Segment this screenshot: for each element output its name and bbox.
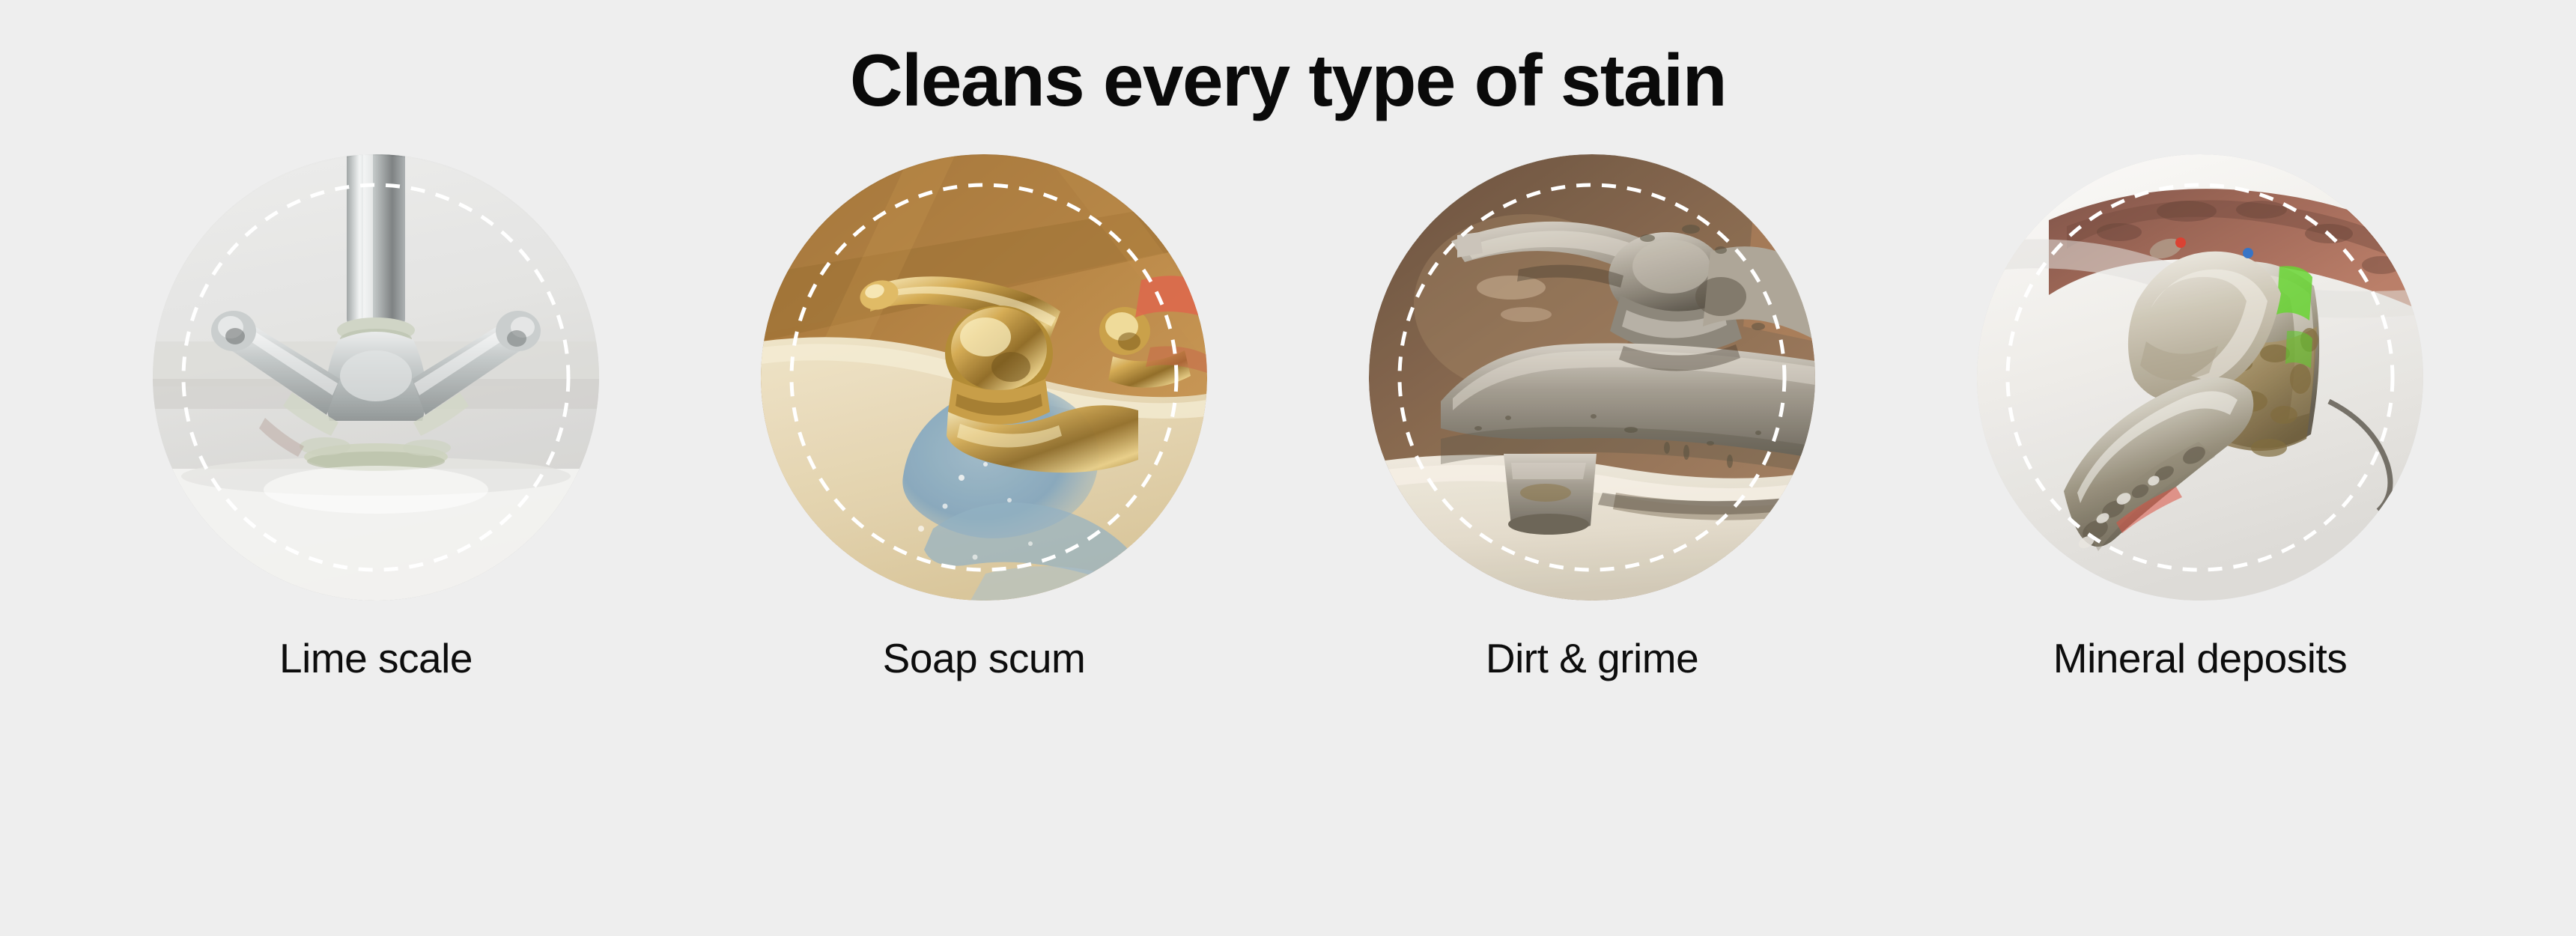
stain-card-label: Soap scum [883,635,1086,682]
stain-types-section: Cleans every type of stain [0,0,2576,936]
stain-card-list: Lime scale [153,154,2423,682]
page-title: Cleans every type of stain [850,0,1726,126]
stain-card-lime-scale[interactable]: Lime scale [153,154,599,682]
stain-card-label: Mineral deposits [2053,635,2347,682]
stain-image-mineral-deposits [1977,154,2423,601]
photo-lime-scale [153,154,599,601]
stain-image-soap-scum [761,154,1207,601]
stain-image-lime-scale [153,154,599,601]
stain-card-mineral-deposits[interactable]: Mineral deposits [1977,154,2423,682]
photo-mineral-deposits [1977,154,2423,601]
stain-card-dirt-grime[interactable]: Dirt & grime [1369,154,1815,682]
stain-card-label: Lime scale [279,635,473,682]
stain-card-label: Dirt & grime [1486,635,1698,682]
stain-card-soap-scum[interactable]: Soap scum [761,154,1207,682]
photo-soap-scum [761,154,1207,601]
stain-image-dirt-grime [1369,154,1815,601]
photo-dirt-grime [1369,154,1815,601]
